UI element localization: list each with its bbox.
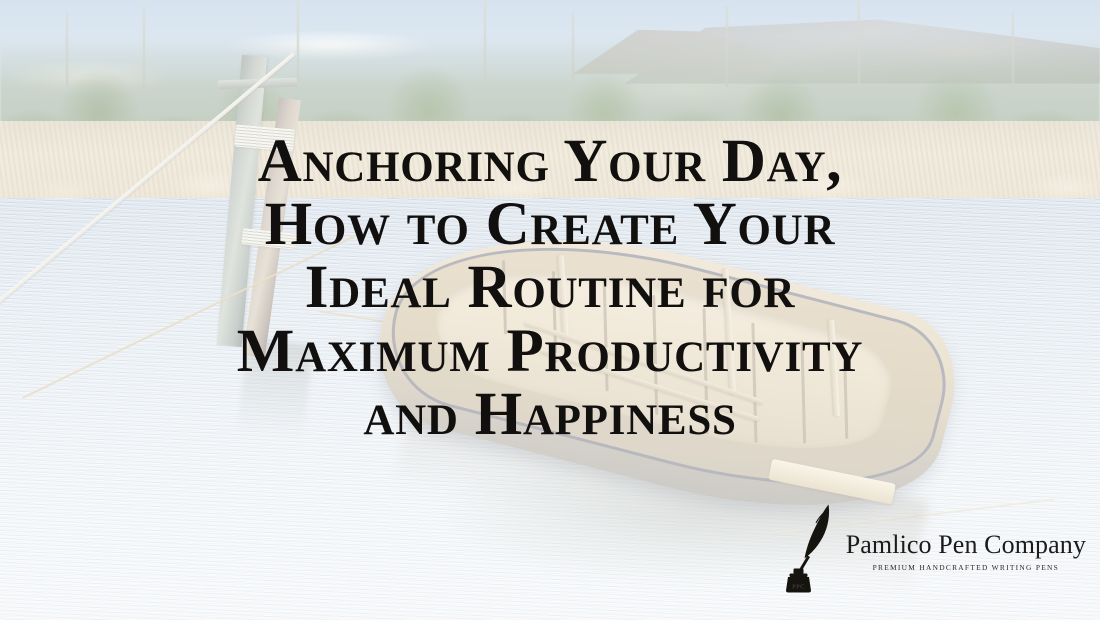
blog-header-banner: Anchoring Your Day, How to Create Your I… [0, 0, 1100, 620]
logo-text-block: Pamlico Pen Company Premium Handcrafted … [846, 532, 1086, 594]
title-line-5: and Happiness [363, 383, 736, 446]
title-line-1: Anchoring Your Day, [258, 130, 843, 193]
brand-name: Pamlico Pen Company [846, 532, 1086, 558]
svg-text:PPC: PPC [792, 584, 805, 591]
title-line-3: Ideal Routine for [305, 256, 796, 319]
brand-tagline: Premium Handcrafted Writing Pens [846, 563, 1086, 572]
title-line-2: How to Create Your [265, 193, 836, 256]
title-line-4: Maximum Productivity [237, 320, 863, 383]
quill-pen-in-inkwell-icon: PPC [784, 500, 840, 594]
brand-logo[interactable]: PPC Pamlico Pen Company Premium Handcraf… [784, 500, 1086, 594]
